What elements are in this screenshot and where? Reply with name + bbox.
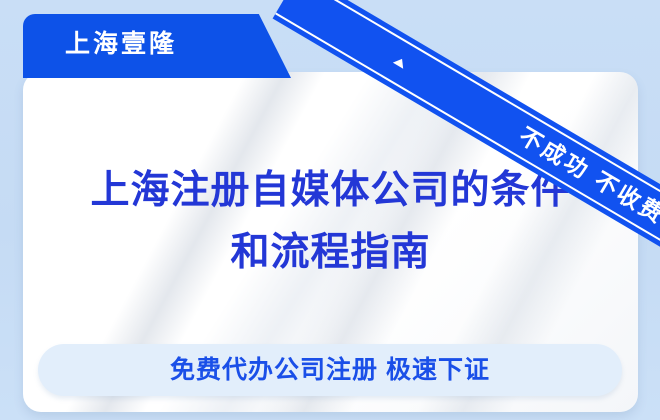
triangle-up-icon <box>393 56 407 69</box>
brand-tab: 上海壹隆 <box>23 14 291 78</box>
cta-banner[interactable]: 免费代办公司注册 极速下证 <box>38 344 622 396</box>
poster-canvas: 上海注册自媒体公司的条件 和流程指南 上海壹隆 免费代办公司注册 极速下证 不成… <box>0 0 660 420</box>
brand-tab-label: 上海壹隆 <box>65 27 177 61</box>
page-title-line-2: 和流程指南 <box>23 222 638 284</box>
cta-banner-label: 免费代办公司注册 极速下证 <box>170 353 490 387</box>
